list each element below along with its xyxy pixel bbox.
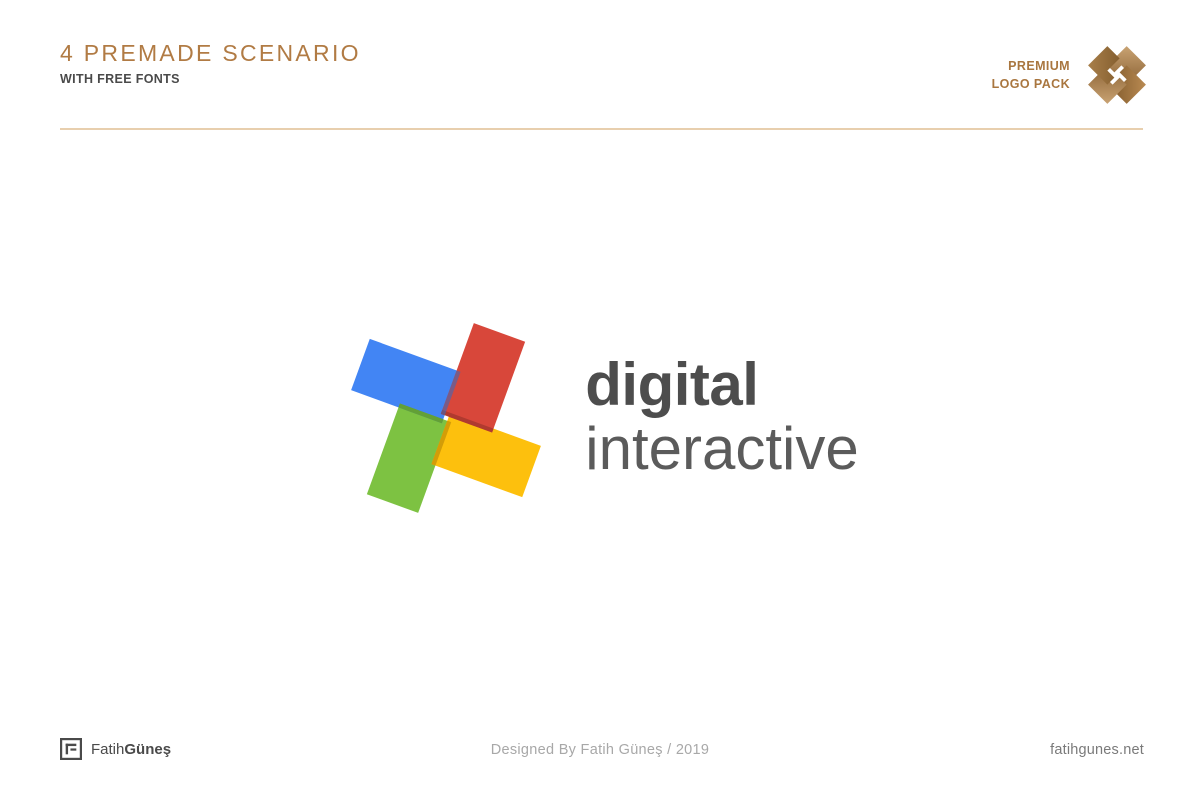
page-subtitle: WITH FREE FONTS — [60, 72, 361, 86]
header-divider — [60, 128, 1143, 130]
wordmark-primary: digital — [585, 354, 858, 415]
wordmark-secondary: interactive — [585, 417, 858, 482]
pinwheel-four-blade-icon — [341, 313, 551, 523]
premium-badge: PREMIUM LOGO PACK — [992, 44, 1148, 106]
logo-lockup: digital interactive — [341, 313, 858, 523]
header: 4 PREMADE SCENARIO WITH FREE FONTS PREMI… — [0, 0, 1200, 140]
logo-stage: digital interactive — [0, 140, 1200, 720]
premium-badge-line1: PREMIUM — [992, 57, 1070, 75]
footer-credit: Designed By Fatih Güneş / 2019 — [0, 742, 1200, 758]
footer-website[interactable]: fatihgunes.net — [1050, 742, 1144, 758]
premium-badge-line2: LOGO PACK — [992, 75, 1070, 93]
premium-badge-text: PREMIUM LOGO PACK — [992, 57, 1070, 93]
page-title: 4 PREMADE SCENARIO — [60, 42, 361, 65]
footer: FatihGüneş Designed By Fatih Güneş / 201… — [0, 720, 1200, 800]
pinwheel-diamond-icon — [1086, 44, 1148, 106]
logo-wordmark: digital interactive — [585, 354, 858, 482]
header-title-block: 4 PREMADE SCENARIO WITH FREE FONTS — [60, 42, 361, 86]
